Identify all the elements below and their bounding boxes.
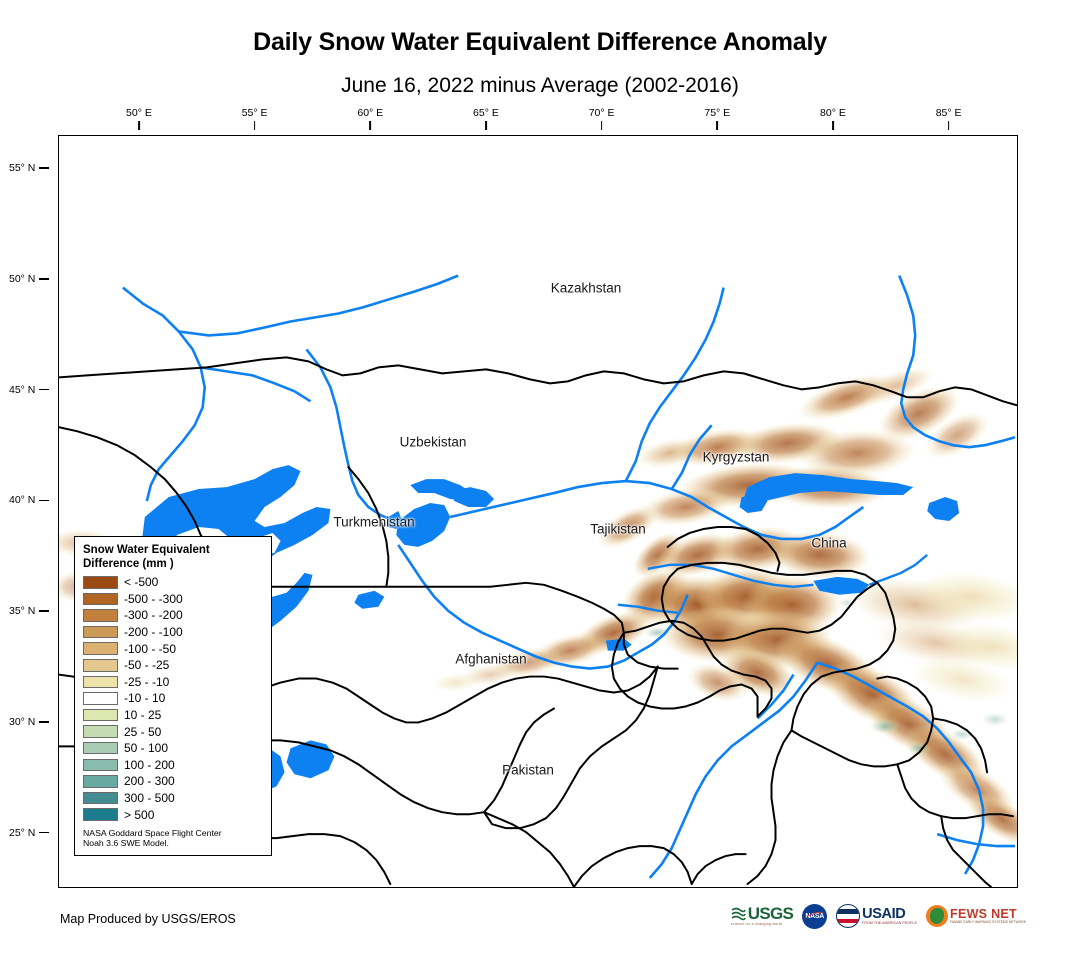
lon-tick-mark bbox=[948, 121, 950, 130]
lon-tick-label: 80° E bbox=[820, 107, 846, 119]
usgs-tagline: science for a changing world bbox=[731, 922, 782, 926]
legend-row: 25 - 50 bbox=[83, 723, 263, 740]
legend-row: -50 - -25 bbox=[83, 657, 263, 674]
lat-tick-label: 40° N bbox=[9, 494, 35, 506]
legend-label: 100 - 200 bbox=[124, 759, 175, 771]
legend-label: 10 - 25 bbox=[124, 709, 161, 721]
lon-tick-mark bbox=[716, 121, 718, 130]
lon-tick-mark bbox=[832, 121, 834, 130]
country-label-afghanistan: Afghanistan bbox=[455, 652, 526, 667]
fewsnet-globe-icon bbox=[926, 905, 948, 927]
legend-row: -100 - -50 bbox=[83, 640, 263, 657]
legend-row: -10 - 10 bbox=[83, 690, 263, 707]
page-subtitle: June 16, 2022 minus Average (2002-2016) bbox=[0, 74, 1080, 98]
legend-swatch bbox=[83, 709, 118, 722]
lat-tick-25: 25° N bbox=[9, 827, 49, 839]
legend-label: > 500 bbox=[124, 809, 154, 821]
legend-label: -50 - -25 bbox=[124, 659, 169, 671]
lat-tick-label: 30° N bbox=[9, 716, 35, 728]
legend-row: 100 - 200 bbox=[83, 757, 263, 774]
usaid-seal-icon bbox=[836, 904, 860, 928]
legend-row: 10 - 25 bbox=[83, 707, 263, 724]
legend-label: -200 - -100 bbox=[124, 626, 183, 638]
lon-tick-80: 80° E bbox=[820, 107, 846, 130]
legend-swatch bbox=[83, 692, 118, 705]
country-label-uzbekistan: Uzbekistan bbox=[400, 435, 467, 450]
lon-tick-85: 85° E bbox=[936, 107, 962, 130]
country-label-kazakhstan: Kazakhstan bbox=[551, 281, 622, 296]
lat-tick-label: 55° N bbox=[9, 162, 35, 174]
legend-source: NASA Goddard Space Flight Center Noah 3.… bbox=[83, 828, 263, 849]
legend-label: -25 - -10 bbox=[124, 676, 169, 688]
lon-tick-label: 85° E bbox=[936, 107, 962, 119]
legend-swatch bbox=[83, 642, 118, 655]
lon-tick-75: 75° E bbox=[704, 107, 730, 130]
legend-row: > 500 bbox=[83, 806, 263, 823]
legend-swatch bbox=[83, 576, 118, 589]
lon-tick-label: 50° E bbox=[126, 107, 152, 119]
legend-label: 50 - 100 bbox=[124, 742, 168, 754]
lat-tick-40: 40° N bbox=[9, 494, 49, 506]
legend-label: -500 - -300 bbox=[124, 593, 183, 605]
lon-tick-50: 50° E bbox=[126, 107, 152, 130]
country-label-china: China bbox=[811, 536, 846, 551]
legend-row: 50 - 100 bbox=[83, 740, 263, 757]
lat-tick-mark bbox=[39, 721, 49, 723]
lat-tick-mark bbox=[39, 389, 49, 391]
lat-tick-label: 50° N bbox=[9, 273, 35, 285]
legend-class-list: < -500-500 - -300-300 - -200-200 - -100-… bbox=[83, 574, 263, 823]
map-page: Daily Snow Water Equivalent Difference A… bbox=[0, 0, 1080, 960]
lat-tick-35: 35° N bbox=[9, 605, 49, 617]
lon-tick-label: 65° E bbox=[473, 107, 499, 119]
map-credit: Map Produced by USGS/EROS bbox=[60, 912, 236, 926]
page-title: Daily Snow Water Equivalent Difference A… bbox=[0, 28, 1080, 57]
legend-swatch bbox=[83, 808, 118, 821]
legend-title: Snow Water Equivalent Difference (mm ) bbox=[83, 544, 263, 571]
legend-label: < -500 bbox=[124, 576, 158, 588]
legend-swatch bbox=[83, 725, 118, 738]
lat-tick-55: 55° N bbox=[9, 162, 49, 174]
country-label-pakistan: Pakistan bbox=[502, 763, 554, 778]
legend-swatch bbox=[83, 759, 118, 772]
lat-tick-label: 25° N bbox=[9, 827, 35, 839]
legend-row: 300 - 500 bbox=[83, 790, 263, 807]
legend-label: 300 - 500 bbox=[124, 792, 175, 804]
legend-label: 200 - 300 bbox=[124, 775, 175, 787]
agency-logos: USGS science for a changing world NASA U… bbox=[731, 903, 1026, 929]
lat-tick-mark bbox=[39, 500, 49, 502]
map-legend: Snow Water Equivalent Difference (mm ) <… bbox=[74, 536, 272, 856]
lon-tick-mark bbox=[601, 121, 603, 130]
usgs-wave-icon bbox=[731, 907, 746, 921]
legend-label: 25 - 50 bbox=[124, 726, 161, 738]
lon-tick-label: 70° E bbox=[589, 107, 615, 119]
legend-swatch bbox=[83, 742, 118, 755]
lon-tick-label: 75° E bbox=[704, 107, 730, 119]
legend-row: < -500 bbox=[83, 574, 263, 591]
lon-tick-mark bbox=[369, 121, 371, 130]
legend-swatch bbox=[83, 593, 118, 606]
lat-tick-label: 45° N bbox=[9, 384, 35, 396]
legend-label: -100 - -50 bbox=[124, 643, 176, 655]
lat-tick-45: 45° N bbox=[9, 384, 49, 396]
lon-tick-55: 55° E bbox=[242, 107, 268, 130]
usaid-logo[interactable]: USAID FROM THE AMERICAN PEOPLE bbox=[836, 903, 917, 929]
lat-tick-50: 50° N bbox=[9, 273, 49, 285]
legend-swatch bbox=[83, 676, 118, 689]
legend-swatch bbox=[83, 659, 118, 672]
lat-tick-label: 35° N bbox=[9, 605, 35, 617]
country-label-kyrgyzstan: Kyrgyzstan bbox=[703, 450, 770, 465]
lon-tick-70: 70° E bbox=[589, 107, 615, 130]
fewsnet-logo[interactable]: FEWS NET FAMINE EARLY WARNING SYSTEMS NE… bbox=[926, 903, 1026, 929]
legend-swatch bbox=[83, 775, 118, 788]
legend-row: -500 - -300 bbox=[83, 591, 263, 608]
lat-tick-mark bbox=[39, 832, 49, 834]
lon-tick-60: 60° E bbox=[357, 107, 383, 130]
usgs-wordmark: USGS bbox=[748, 906, 793, 921]
lat-tick-mark bbox=[39, 278, 49, 280]
legend-swatch bbox=[83, 792, 118, 805]
usgs-logo[interactable]: USGS science for a changing world bbox=[731, 903, 793, 929]
lon-tick-label: 60° E bbox=[357, 107, 383, 119]
lon-tick-mark bbox=[138, 121, 140, 130]
legend-row: -25 - -10 bbox=[83, 674, 263, 691]
usaid-wordmark: USAID bbox=[862, 908, 917, 921]
usaid-tagline: FROM THE AMERICAN PEOPLE bbox=[862, 921, 917, 925]
legend-label: -300 - -200 bbox=[124, 609, 183, 621]
lat-tick-30: 30° N bbox=[9, 716, 49, 728]
legend-row: 200 - 300 bbox=[83, 773, 263, 790]
legend-row: -300 - -200 bbox=[83, 607, 263, 624]
legend-label: -10 - 10 bbox=[124, 692, 165, 704]
country-label-turkmenistan: Turkmenistan bbox=[333, 515, 414, 530]
lat-tick-mark bbox=[39, 610, 49, 612]
fewsnet-wordmark: FEWS NET bbox=[950, 908, 1026, 920]
lon-tick-mark bbox=[485, 121, 487, 130]
country-label-tajikistan: Tajikistan bbox=[590, 522, 646, 537]
fewsnet-tagline: FAMINE EARLY WARNING SYSTEMS NETWORK bbox=[950, 920, 1026, 924]
nasa-logo[interactable]: NASA bbox=[802, 903, 827, 929]
lat-tick-mark bbox=[39, 167, 49, 169]
legend-row: -200 - -100 bbox=[83, 624, 263, 641]
legend-swatch bbox=[83, 626, 118, 639]
lon-tick-65: 65° E bbox=[473, 107, 499, 130]
map-frame[interactable]: KazakhstanUzbekistanTurkmenistanKyrgyzst… bbox=[58, 135, 1018, 888]
legend-swatch bbox=[83, 609, 118, 622]
lon-tick-label: 55° E bbox=[242, 107, 268, 119]
lon-tick-mark bbox=[254, 121, 256, 130]
